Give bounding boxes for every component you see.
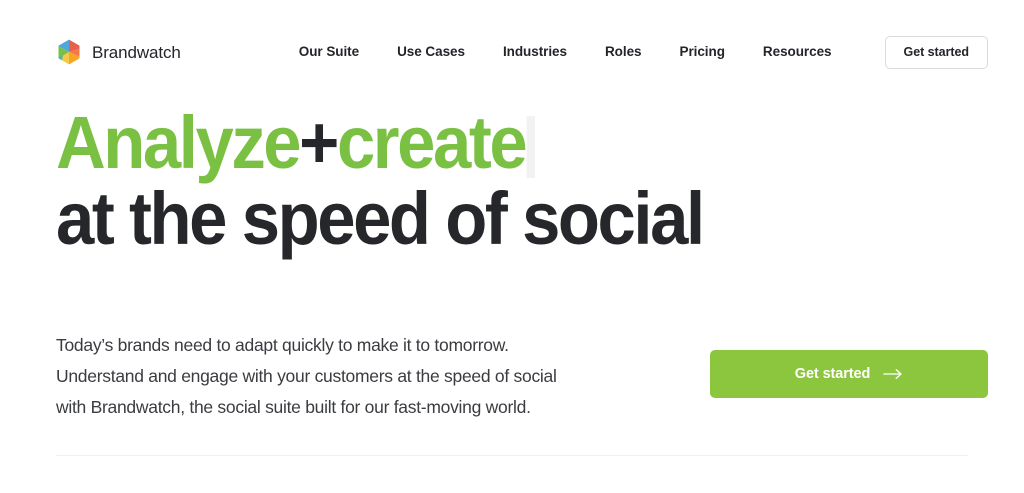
headline-word-analyze: Analyze <box>56 101 299 184</box>
header-get-started-button[interactable]: Get started <box>885 36 988 69</box>
page-title: Analyze+create at the speed of social <box>56 104 904 254</box>
headline-line-1: Analyze+create <box>56 104 904 178</box>
text-caret <box>526 116 534 178</box>
brand-name: Brandwatch <box>92 44 181 61</box>
landing-page: Brandwatch Our Suite Use Cases Industrie… <box>0 0 1024 493</box>
section-divider <box>56 455 968 456</box>
nav-item-industries[interactable]: Industries <box>503 45 567 59</box>
hero-section: Analyze+create at the speed of social <box>0 104 1024 254</box>
main-navigation: Our Suite Use Cases Industries Roles Pri… <box>299 45 832 59</box>
hero-paragraph-line-2: Understand and engage with your customer… <box>56 361 656 392</box>
hero-paragraph-line-1: Today’s brands need to adapt quickly to … <box>56 330 656 361</box>
hero-paragraph-line-3: with Brandwatch, the social suite built … <box>56 392 656 423</box>
hero-cta-label: Get started <box>795 366 870 382</box>
site-header: Brandwatch Our Suite Use Cases Industrie… <box>0 0 1024 104</box>
hero-get-started-button[interactable]: Get started <box>710 350 988 398</box>
nav-item-use-cases[interactable]: Use Cases <box>397 45 465 59</box>
nav-item-resources[interactable]: Resources <box>763 45 832 59</box>
brand-logo-link[interactable]: Brandwatch <box>56 38 181 66</box>
arrow-right-icon <box>883 368 903 380</box>
nav-item-roles[interactable]: Roles <box>605 45 642 59</box>
hero-cta-container: Get started <box>710 330 988 398</box>
hero-bottom-row: Today’s brands need to adapt quickly to … <box>0 330 1024 423</box>
nav-item-pricing[interactable]: Pricing <box>679 45 724 59</box>
headline-line-2: at the speed of social <box>56 178 904 254</box>
hero-paragraph: Today’s brands need to adapt quickly to … <box>56 330 656 423</box>
headline-plus-symbol: + <box>299 101 337 184</box>
brandwatch-hexagon-logo-icon <box>56 38 82 66</box>
headline-word-create: create <box>337 101 525 184</box>
nav-item-our-suite[interactable]: Our Suite <box>299 45 359 59</box>
